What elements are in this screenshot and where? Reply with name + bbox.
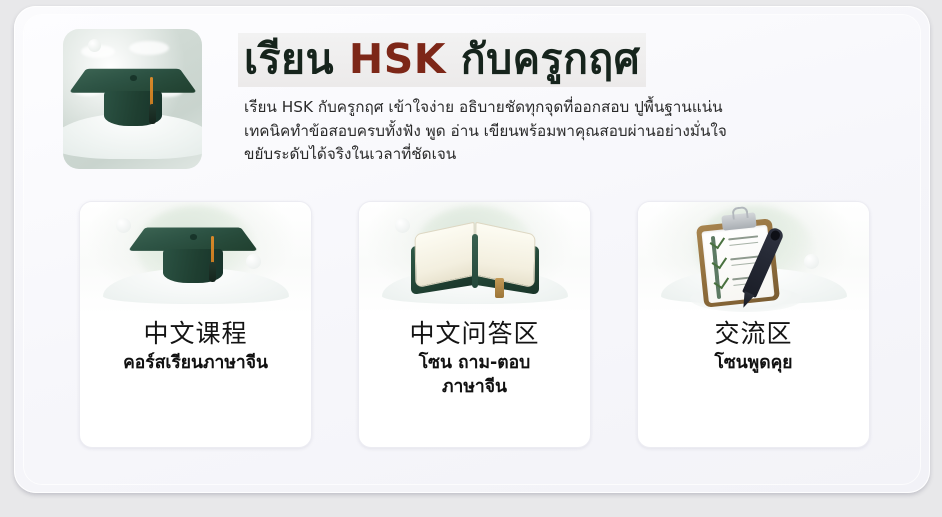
pebble-decoration (804, 254, 819, 269)
graduation-cap-icon (79, 57, 187, 141)
book-spine (472, 234, 478, 288)
heading-block: เรียน HSK กับครูกฤศ เรียน HSK กับครูกฤศ … (238, 33, 858, 166)
card-title-th: โซนพูดคุย (650, 351, 857, 375)
card-media (359, 202, 590, 314)
clipboard-checklist-icon (694, 212, 794, 308)
snowball-decoration (88, 39, 101, 52)
pebble-decoration (395, 218, 410, 233)
hero-logo-badge (63, 29, 202, 169)
page-title-prefix: เรียน (244, 35, 349, 83)
card-chinese-courses[interactable]: 中文课程 คอร์สเรียนภาษาจีน (79, 201, 312, 448)
card-title-cn: 交流区 (650, 318, 857, 349)
card-title-cn: 中文问答区 (371, 318, 578, 349)
cap-button (190, 234, 198, 240)
card-body: 中文问答区 โซน ถาม-ตอบ ภาษาจีน (371, 318, 578, 399)
page-description: เรียน HSK กับครูกฤศ เข้าใจง่าย อธิบายชัด… (244, 96, 809, 166)
book-bookmark (495, 278, 504, 298)
cloud-decoration (129, 41, 169, 55)
app-panel: เรียน HSK กับครูกฤศ เรียน HSK กับครูกฤศ … (14, 6, 930, 493)
card-body: 中文课程 คอร์สเรียนภาษาจีน (92, 318, 299, 375)
card-title-cn: 中文课程 (92, 318, 299, 349)
open-book-icon (409, 222, 541, 294)
pebble-decoration (246, 254, 261, 269)
cap-tassel-cord (150, 77, 153, 106)
card-title-th: คอร์สเรียนภาษาจีน (92, 351, 299, 375)
header-section: เรียน HSK กับครูกฤศ เรียน HSK กับครูกฤศ … (24, 15, 920, 193)
card-title-th: โซน ถาม-ตอบ ภาษาจีน (371, 351, 578, 399)
checklist-row (715, 278, 721, 297)
cap-tassel-cord (211, 236, 214, 264)
cap-tassel-knot (149, 104, 156, 124)
page-title-accent: HSK (349, 35, 446, 83)
card-media (80, 202, 311, 314)
checklist-row (711, 238, 717, 257)
checklist-row (713, 258, 719, 277)
category-cards-row: 中文课程 คอร์สเรียนภาษาจีน (24, 201, 920, 463)
graduation-cap-icon (138, 216, 248, 298)
page-title-suffix: กับครูกฤศ (446, 35, 640, 83)
page-title: เรียน HSK กับครูกฤศ (238, 33, 646, 87)
cap-tassel-knot (209, 262, 216, 282)
panel-inner: เรียน HSK กับครูกฤศ เรียน HSK กับครูกฤศ … (24, 15, 920, 484)
card-body: 交流区 โซนพูดคุย (650, 318, 857, 375)
card-qa-zone[interactable]: 中文问答区 โซน ถาม-ตอบ ภาษาจีน (358, 201, 591, 448)
card-media (638, 202, 869, 314)
pebble-decoration (116, 218, 131, 233)
card-chat-zone[interactable]: 交流区 โซนพูดคุย (637, 201, 870, 448)
